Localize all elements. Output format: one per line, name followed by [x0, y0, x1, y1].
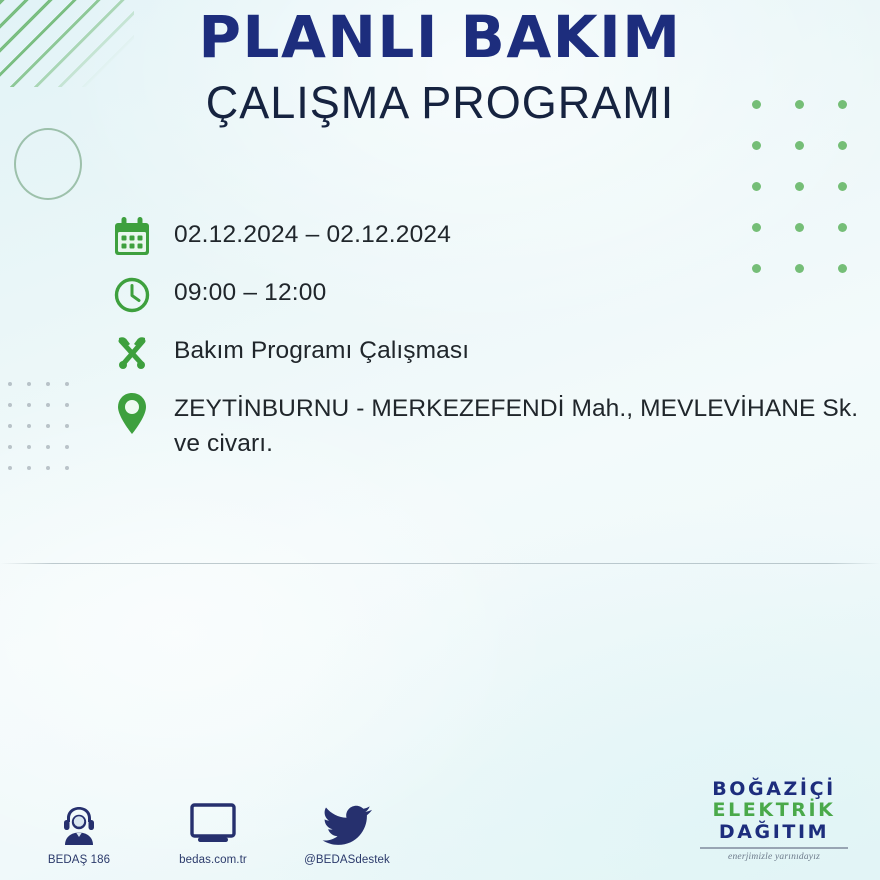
decoration-dot	[795, 141, 804, 150]
footer-contacts: BEDAŞ 186 bedas.com.tr @BEDASdestek	[34, 799, 392, 866]
decoration-dot	[838, 182, 847, 191]
detail-row-date: 02.12.2024 – 02.12.2024	[112, 214, 860, 258]
location-pin-icon	[112, 388, 174, 438]
contact-phone[interactable]: BEDAŞ 186	[34, 799, 124, 866]
contact-twitter[interactable]: @BEDASdestek	[302, 799, 392, 866]
decoration-dot	[65, 466, 69, 470]
decoration-dot	[752, 141, 761, 150]
decoration-dot	[65, 403, 69, 407]
decoration-dot	[8, 445, 12, 449]
detail-row-time: 09:00 – 12:00	[112, 272, 860, 316]
poster-header: PLANLI BAKIM ÇALIŞMA PROGRAMI	[0, 8, 880, 125]
decoration-dot	[27, 403, 31, 407]
logo-tagline: enerjimizle yarınıdayız	[694, 852, 854, 862]
decoration-dot	[46, 424, 50, 428]
decoration-dot	[27, 445, 31, 449]
headset-operator-icon	[34, 799, 124, 847]
logo-rule	[700, 847, 848, 849]
contact-twitter-label: @BEDASdestek	[302, 854, 392, 866]
contact-phone-label: BEDAŞ 186	[34, 854, 124, 866]
detail-location-text: ZEYTİNBURNU - MERKEZEFENDİ Mah., MEVLEVİ…	[174, 388, 860, 462]
decoration-dot	[752, 182, 761, 191]
maintenance-details: 02.12.2024 – 02.12.2024 09:00 – 12:00	[112, 214, 860, 462]
decoration-dot	[46, 466, 50, 470]
decoration-dot	[838, 141, 847, 150]
decoration-dot	[8, 403, 12, 407]
decoration-dot	[27, 424, 31, 428]
decoration-dot	[8, 424, 12, 428]
decoration-dot	[65, 382, 69, 386]
decoration-dot	[795, 182, 804, 191]
decoration-dot	[27, 382, 31, 386]
contact-website[interactable]: bedas.com.tr	[168, 799, 258, 866]
twitter-bird-icon	[302, 799, 392, 847]
page-title: PLANLI BAKIM	[0, 8, 880, 66]
section-divider	[0, 563, 880, 564]
detail-date-text: 02.12.2024 – 02.12.2024	[174, 214, 451, 253]
detail-row-work-type: Bakım Programı Çalışması	[112, 330, 860, 374]
tools-icon	[112, 330, 174, 374]
decoration-dot	[46, 403, 50, 407]
dot-grid-left-decoration	[8, 382, 78, 474]
calendar-icon	[112, 214, 174, 258]
detail-work-type-text: Bakım Programı Çalışması	[174, 330, 469, 369]
decoration-dot	[8, 466, 12, 470]
page-subtitle: ÇALIŞMA PROGRAMI	[0, 80, 880, 125]
decoration-dot	[46, 382, 50, 386]
decoration-dot	[65, 424, 69, 428]
company-logo: BOĞAZİÇİ ELEKTRİK DAĞITIM enerjimizle ya…	[694, 779, 854, 862]
logo-line-elektrik: ELEKTRİK	[694, 800, 854, 821]
decoration-dot	[27, 466, 31, 470]
logo-line-dagitim: DAĞITIM	[694, 822, 854, 843]
monitor-icon	[168, 799, 258, 847]
decoration-dot	[8, 382, 12, 386]
clock-icon	[112, 272, 174, 316]
decoration-dot	[46, 445, 50, 449]
circle-outline-decoration	[14, 128, 82, 200]
planned-maintenance-poster: PLANLI BAKIM ÇALIŞMA PROGRAMI	[0, 0, 880, 880]
detail-time-text: 09:00 – 12:00	[174, 272, 326, 311]
contact-website-label: bedas.com.tr	[168, 854, 258, 866]
decoration-dot	[65, 445, 69, 449]
logo-line-bogazici: BOĞAZİÇİ	[694, 779, 854, 800]
detail-row-location: ZEYTİNBURNU - MERKEZEFENDİ Mah., MEVLEVİ…	[112, 388, 860, 462]
